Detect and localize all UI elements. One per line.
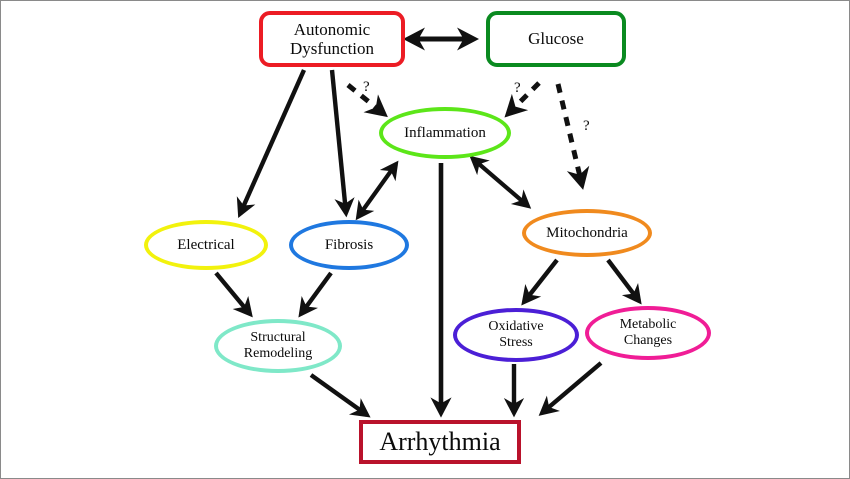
edge-inflammation-mitochondria	[479, 164, 528, 206]
node-label-fibrosis: Fibrosis	[325, 237, 373, 254]
edge-metabolic-arrhythmia	[542, 363, 601, 413]
edge-fibrosis-structural	[301, 273, 331, 314]
node-oxidative-stress[interactable]: Oxidative Stress	[453, 308, 579, 362]
edge-mitochondria-oxidative	[524, 260, 557, 302]
node-metabolic-changes[interactable]: Metabolic Changes	[585, 306, 711, 360]
edge-structural-arrhythmia	[311, 375, 367, 415]
node-label-glucose: Glucose	[528, 29, 584, 48]
node-label-structural-remodeling: Structural Remodeling	[244, 330, 312, 361]
q-glucose-inflammation-label: ?	[514, 80, 521, 97]
node-mitochondria[interactable]: Mitochondria	[522, 209, 652, 257]
node-label-arrhythmia: Arrhythmia	[379, 427, 500, 456]
edge-electrical-structural	[216, 273, 250, 314]
edge-fibrosis-inflammation	[363, 164, 396, 210]
edge-autonomic-electrical	[240, 70, 304, 214]
node-label-inflammation: Inflammation	[404, 125, 486, 142]
node-label-mitochondria: Mitochondria	[546, 225, 628, 242]
node-autonomic-dysfunction[interactable]: Autonomic Dysfunction	[259, 11, 405, 67]
node-label-oxidative-stress: Oxidative Stress	[488, 319, 543, 350]
edge-glucose-inflammation	[508, 83, 539, 114]
edge-autonomic-fibrosis	[332, 70, 346, 213]
node-label-autonomic-dysfunction: Autonomic Dysfunction	[290, 20, 374, 58]
edge-glucose-mitochondria	[558, 84, 582, 185]
edge-mitochondria-metabolic	[608, 260, 639, 301]
node-glucose[interactable]: Glucose	[486, 11, 626, 67]
diagram-canvas: Autonomic DysfunctionGlucoseInflammation…	[0, 0, 850, 479]
node-structural-remodeling[interactable]: Structural Remodeling	[214, 319, 342, 373]
node-label-metabolic-changes: Metabolic Changes	[620, 317, 677, 348]
node-electrical[interactable]: Electrical	[144, 220, 268, 270]
node-inflammation[interactable]: Inflammation	[379, 107, 511, 159]
node-arrhythmia[interactable]: Arrhythmia	[359, 420, 521, 464]
q-glucose-mitochondria-label: ?	[583, 118, 590, 135]
node-fibrosis[interactable]: Fibrosis	[289, 220, 409, 270]
edge-layer	[1, 1, 850, 479]
q-autonomic-inflammation-label: ?	[363, 79, 370, 96]
node-label-electrical: Electrical	[177, 237, 234, 254]
